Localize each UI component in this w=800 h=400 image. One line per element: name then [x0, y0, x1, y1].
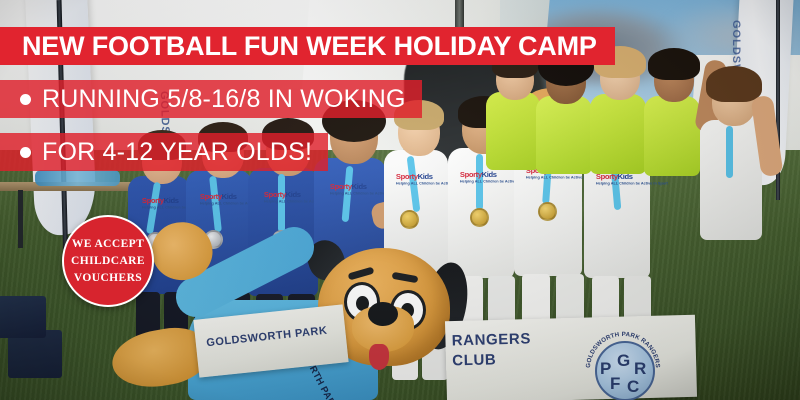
club-sign-line2: CLUB [452, 349, 562, 372]
badge-line-3: VOUCHERS [74, 270, 142, 287]
mascot-nose [368, 302, 398, 326]
club-crest: GOLDSWORTH PARK RANGERS P G R F C [584, 330, 662, 400]
bullet-band-1: RUNNING 5/8-16/8 IN WOKING [0, 80, 422, 118]
equipment-box [0, 296, 46, 338]
promo-banner: GOLDSWORTH PARK RANGERS F.C. GOLDSWORTH … [0, 0, 800, 400]
headline-band: NEW FOOTBALL FUN WEEK HOLIDAY CAMP [0, 27, 615, 65]
badge-line-2: CHILDCARE [71, 253, 145, 270]
mascot-brow [348, 267, 375, 281]
badge-line-1: WE ACCEPT [72, 236, 144, 253]
childcare-vouchers-badge: WE ACCEPT CHILDCARE VOUCHERS [62, 215, 154, 307]
table-leg [18, 190, 23, 248]
bullet-text-2: FOR 4-12 YEAR OLDS! [42, 140, 312, 165]
mascot-tongue [369, 344, 389, 370]
club-sign-right-text: RANGERS CLUB [451, 329, 562, 372]
crest-letters: P G R F C [595, 341, 651, 397]
bullet-text-1: RUNNING 5/8-16/8 IN WOKING [42, 87, 406, 112]
mascot-brow [392, 272, 419, 283]
bullet-dot-icon [20, 94, 31, 105]
page-title: NEW FOOTBALL FUN WEEK HOLIDAY CAMP [22, 33, 615, 60]
bullet-dot-icon [20, 147, 31, 158]
kit-pile [35, 170, 120, 186]
bullet-band-2: FOR 4-12 YEAR OLDS! [0, 133, 328, 171]
